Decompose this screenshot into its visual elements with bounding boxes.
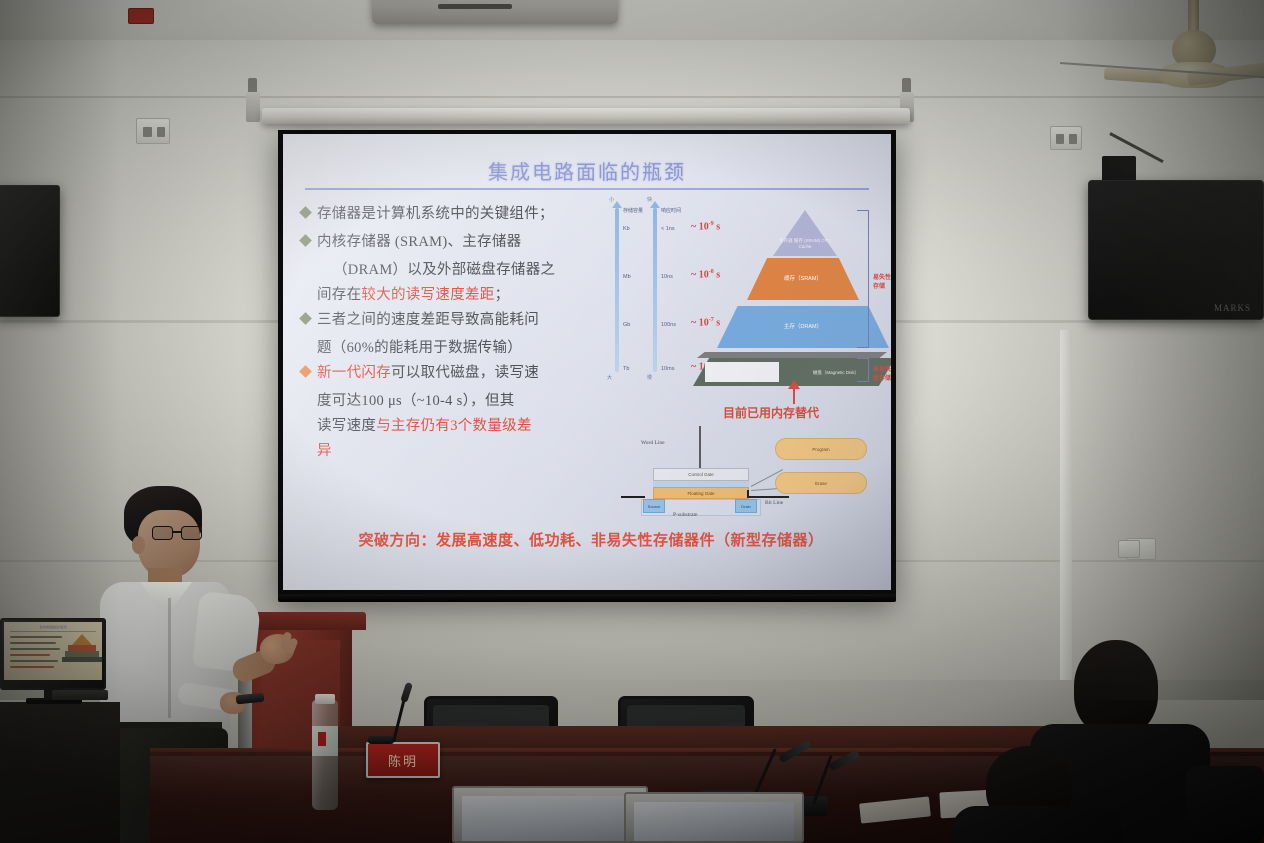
bullet-text-segment: 读写速度: [317, 418, 376, 434]
name-plate: 陈明: [366, 742, 440, 778]
slide-bullet: 三者之间的速度差距导致高能耗问: [301, 308, 621, 333]
slide-bullet-list: 存储器是计算机系统中的关键组件；内核存储器 (SRAM)、主存储器（DRAM）以…: [301, 202, 621, 464]
bullet-text-segment: 存储器是计算机系统中的关键组件；: [317, 206, 554, 222]
bullet-diamond-icon: [299, 365, 312, 378]
presenter-glasses: [152, 526, 204, 541]
slide-bullet: 内核存储器 (SRAM)、主存储器: [301, 230, 621, 255]
erase-callout: Erase: [775, 472, 867, 494]
floating-gate: Floating Gate: [653, 487, 749, 499]
bullet-text-segment: 题（60%的能耗用于数据传输）: [317, 340, 522, 356]
title-underline: [305, 188, 869, 190]
bottle-logo: [318, 732, 326, 746]
bullet-text-segment: 度可达100 μs（~10: [317, 393, 440, 409]
pyramid-scientific-value: ~ 10-9 s: [691, 221, 720, 232]
pyramid-time-tick: 10ns: [661, 274, 673, 280]
axis-top-label-time: 快: [647, 196, 652, 203]
bit-line-label: Bit Line: [765, 500, 783, 506]
bullet-continuation-line: （DRAM）以及外部磁盘存储器之: [301, 258, 621, 283]
name-plate-text: 陈明: [388, 751, 418, 770]
bottle-cap: [315, 694, 335, 704]
presentation-clicker: [236, 693, 265, 705]
presenter-shirt-placket: [168, 598, 171, 718]
slide-conclusion: 突破方向：发展高速度、低功耗、非易失性存储器件（新型存储器）: [299, 529, 883, 550]
ceiling-projector: [372, 0, 618, 24]
bit-line-wire: [749, 496, 789, 498]
screen-surface: 集成电路面临的瓶颈 存储器是计算机系统中的关键组件；内核存储器 (SRAM)、主…: [283, 134, 891, 590]
wall-shading-left: [0, 0, 120, 700]
program-callout: Program: [775, 438, 867, 460]
screen-roller-housing: [262, 108, 910, 124]
source-wire: [621, 496, 645, 498]
bullet-text-segment: 间存在: [317, 287, 361, 303]
bullet-text-segment: 内核存储器 (SRAM)、主存储器: [317, 234, 521, 250]
projector-lens: [438, 4, 512, 9]
microphone-base: [368, 736, 394, 744]
bullet-continuation-line: 间存在较大的读写速度差距；: [301, 283, 621, 308]
pyramid-disk-callout-box: [705, 362, 779, 382]
pyramid-scientific-value: ~ 10-8 s: [691, 269, 720, 280]
memory-hierarchy-pyramid: 小 快 大 慢 存储容量 响应时间 Kb< 1ns~ 10-9 sMb10ns~…: [605, 196, 891, 396]
screen-bottom-bar: [278, 594, 896, 602]
bullet-line: 三者之间的速度差距导致高能耗问: [317, 308, 539, 333]
presenter-ear: [132, 536, 145, 554]
pyramid-capacity-tick: Mb: [623, 274, 631, 280]
bullet-diamond-icon: [299, 234, 312, 247]
bullet-continuation-line: 度可达100 μs（~10-4 s），但其: [301, 389, 621, 414]
axis-bottom-label-capacity: 大: [607, 374, 612, 381]
bullet-line: 新一代闪存可以取代磁盘，读写速: [317, 361, 539, 386]
axis-response-time: [653, 208, 657, 372]
annotation-arrow: [793, 382, 795, 404]
bullet-text-segment: ；: [495, 287, 510, 303]
bullet-text-segment: 与主存仍有3个数量级差: [376, 418, 532, 434]
bullet-diamond-icon: [299, 206, 312, 219]
bullet-continuation-line: 题（60%的能耗用于数据传输）: [301, 336, 621, 361]
bullet-text-segment: -4: [440, 393, 453, 409]
axis-capacity: [615, 208, 619, 372]
bullet-text-segment: 新一代闪存: [317, 365, 391, 381]
axis-header-time: 响应时间: [661, 208, 683, 214]
operator-desk: [0, 702, 120, 843]
bullet-text-segment: 可以取代磁盘，读写速: [391, 365, 539, 381]
brace-nonvolatile: [857, 358, 869, 382]
bullet-line: 存储器是计算机系统中的关键组件；: [317, 202, 554, 227]
screen-bracket: [246, 92, 260, 122]
bullet-diamond-icon: [299, 312, 312, 325]
word-line-wire: [699, 426, 701, 468]
axis-bottom-label-time: 慢: [647, 374, 652, 381]
slide-title: 集成电路面临的瓶颈: [283, 156, 891, 185]
presentation-slide: 集成电路面临的瓶颈 存储器是计算机系统中的关键组件；内核存储器 (SRAM)、主…: [283, 134, 891, 590]
slide-bullet: 存储器是计算机系统中的关键组件；: [301, 202, 621, 227]
axis-top-label-capacity: 小: [609, 196, 614, 203]
axis-header-capacity: 存储容量: [623, 208, 645, 214]
word-line-label: Word Line: [641, 440, 665, 446]
bullet-text-segment: 较大的读写速度差距: [361, 287, 494, 303]
pyramid-tier-sram: 缓存（SRAM）: [747, 258, 859, 300]
substrate-label: P-substrate: [673, 512, 697, 518]
pyramid-scientific-value: ~ 10-7 s: [691, 317, 720, 328]
pyramid-time-tick: 100ns: [661, 322, 676, 328]
brace-label-volatile: 易失性存储: [873, 272, 891, 290]
projection-screen: 集成电路面临的瓶颈 存储器是计算机系统中的关键组件；内核存储器 (SRAM)、主…: [278, 130, 896, 600]
table-popup-monitor: [624, 792, 804, 843]
bullet-text-segment: 异: [317, 443, 332, 459]
pyramid-capacity-tick: Kb: [623, 226, 630, 232]
pyramid-capacity-tick: Tb: [623, 366, 629, 372]
pyramid-tier-label-top: 寄存器 缓存 (SRAM) CPU Cache: [777, 238, 833, 250]
wall-outlet: [136, 118, 170, 144]
slide-bullet: 新一代闪存可以取代磁盘，读写速: [301, 361, 621, 386]
brace-volatile: [857, 210, 869, 348]
lecture-room-photo: MARKS 集成电路面临的瓶颈 存储器是计算机系统中的关键组件；内核存储器 (S…: [0, 0, 1264, 843]
pyramid-capacity-tick: Gb: [623, 322, 630, 328]
table-popup-monitor: [452, 786, 648, 843]
microphone-head: [400, 682, 413, 703]
pyramid-annotation: 目前已用内存替代: [723, 404, 819, 421]
bullet-text-segment: s），但其: [453, 393, 515, 409]
bullet-text-segment: （DRAM）以及外部磁盘存储器之: [333, 262, 555, 278]
source-terminal: Source: [643, 499, 665, 513]
wall-shading-right: [1064, 0, 1264, 700]
bullet-continuation-line: 读写速度与主存仍有3个数量级差: [301, 414, 621, 439]
pyramid-time-tick: 10ms: [661, 366, 674, 372]
control-gate: Control Gate: [653, 468, 749, 481]
brace-label-nonvolatile: 非易失性存储: [873, 364, 891, 382]
bullet-line: 内核存储器 (SRAM)、主存储器: [317, 230, 521, 255]
drain-terminal: Drain: [735, 499, 757, 513]
flash-cell-diagram: Word Line Control Gate Floating Gate P-s…: [615, 422, 883, 518]
audience-chair: [1186, 766, 1264, 843]
bullet-text-segment: 三者之间的速度差距导致高能耗问: [317, 312, 539, 328]
bullet-continuation-line: 异: [301, 439, 621, 464]
fire-alarm-device: [128, 8, 154, 24]
pyramid-time-tick: < 1ns: [661, 226, 675, 232]
